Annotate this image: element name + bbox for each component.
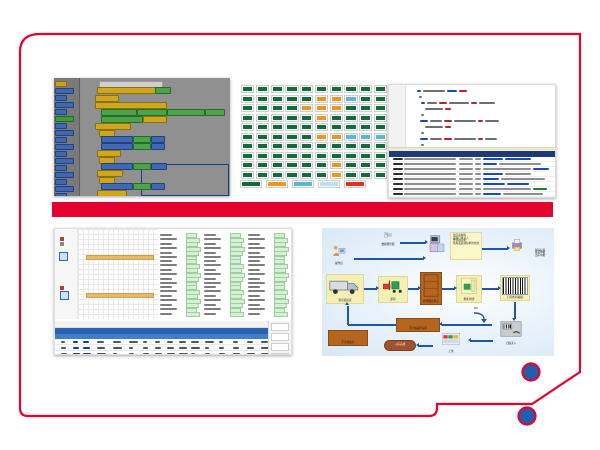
log-output[interactable]	[389, 157, 555, 197]
code-block[interactable]	[97, 170, 123, 177]
status-card-fill	[361, 144, 370, 148]
status-card-fill	[376, 97, 385, 101]
log-token	[483, 178, 499, 180]
gantt-bar[interactable]	[86, 293, 154, 298]
sheet-text-label	[204, 247, 221, 249]
status-card[interactable]	[285, 171, 298, 179]
status-card[interactable]	[315, 95, 328, 103]
table-side-button[interactable]	[271, 333, 289, 341]
status-card[interactable]	[271, 171, 284, 179]
status-card[interactable]	[330, 142, 343, 150]
status-card-fill	[346, 163, 355, 167]
table-cell	[219, 347, 224, 349]
sheet-text-label	[204, 290, 221, 292]
status-card[interactable]	[330, 161, 343, 169]
status-card-grid[interactable]	[240, 84, 388, 180]
status-card[interactable]	[271, 114, 284, 122]
sheet-text-row	[248, 290, 288, 293]
palette-block[interactable]	[55, 158, 74, 164]
barcode-icon	[502, 277, 528, 295]
code-token	[421, 114, 424, 116]
flow-arrow	[348, 324, 396, 326]
table-cell	[247, 347, 254, 349]
status-card-fill	[273, 154, 282, 158]
status-card-fill	[332, 87, 341, 91]
status-card[interactable]	[271, 104, 284, 112]
code-token	[445, 126, 451, 128]
status-card[interactable]	[344, 104, 357, 112]
table-cell	[233, 347, 239, 349]
code-block[interactable]	[133, 136, 151, 143]
flow-node-printlbl[interactable]: 条码标签 拣货单据 出库单据	[528, 238, 552, 258]
gantt-node-handle[interactable]	[59, 252, 68, 261]
sheet-text-label	[160, 295, 172, 297]
sheet-text-label	[204, 252, 216, 254]
status-card[interactable]	[285, 104, 298, 112]
palette-block[interactable]	[55, 179, 67, 185]
status-card[interactable]	[241, 95, 254, 103]
code-block[interactable]	[167, 109, 205, 116]
palette-block[interactable]	[55, 88, 74, 94]
blocks-editor-screenshot[interactable]	[54, 78, 230, 196]
code-area[interactable]	[389, 85, 555, 149]
table-cell	[113, 341, 121, 343]
sheet-text-row	[248, 299, 288, 302]
status-card[interactable]	[256, 104, 269, 112]
flow-node-done[interactable]: 入库完成	[384, 340, 416, 351]
log-token	[475, 158, 481, 160]
palette-block[interactable]	[55, 165, 67, 171]
code-block[interactable]	[133, 163, 151, 170]
status-card-fill	[258, 173, 267, 177]
status-card[interactable]	[256, 152, 269, 160]
status-card[interactable]	[271, 85, 284, 93]
sheet-text-label	[160, 252, 172, 254]
status-card-fill	[287, 135, 296, 139]
status-card[interactable]	[330, 85, 343, 93]
flow-node-reject[interactable]: 不合格品暂存区	[396, 318, 440, 332]
code-token	[478, 138, 483, 140]
status-card[interactable]	[315, 114, 328, 122]
flow-node-terminal[interactable]	[426, 234, 448, 262]
code-block[interactable]	[97, 190, 127, 196]
status-card[interactable]	[256, 142, 269, 150]
table-cell	[113, 353, 117, 355]
sheet-text-row	[248, 285, 288, 288]
palette-block[interactable]	[55, 193, 67, 196]
status-card[interactable]	[315, 161, 328, 169]
sheet-text-row	[248, 308, 288, 311]
status-card[interactable]	[374, 142, 387, 150]
gantt-node-handle[interactable]	[60, 291, 69, 300]
palette-block[interactable]	[55, 172, 74, 178]
flow-node-operator[interactable]: 操作员	[326, 244, 352, 266]
sheet-text-row	[160, 268, 200, 271]
table-cell	[191, 347, 200, 349]
sheet-text-row	[248, 238, 288, 241]
status-card[interactable]	[241, 104, 254, 112]
blocks-palette[interactable]	[54, 78, 80, 196]
status-card[interactable]	[271, 142, 284, 150]
code-block[interactable]	[205, 109, 225, 116]
palette-block[interactable]	[55, 109, 67, 115]
status-card[interactable]	[359, 95, 372, 103]
table-cell	[191, 341, 199, 343]
status-card[interactable]	[315, 152, 328, 160]
log-token	[393, 188, 403, 190]
status-card[interactable]	[285, 161, 298, 169]
log-token	[483, 193, 501, 195]
status-card[interactable]	[344, 142, 357, 150]
status-card-fill	[317, 116, 326, 120]
code-token	[420, 120, 428, 122]
status-card[interactable]	[374, 95, 387, 103]
flow-node-label: 检查收货单证	[421, 301, 441, 304]
status-card-fill	[258, 144, 267, 148]
status-card[interactable]	[374, 133, 387, 141]
table-cell	[143, 347, 148, 349]
status-card[interactable]	[256, 114, 269, 122]
flow-node-scan[interactable]: 扫描录入	[494, 320, 528, 346]
status-card-fill	[287, 144, 296, 148]
palette-block[interactable]	[55, 137, 67, 143]
status-card[interactable]	[285, 142, 298, 150]
code-block[interactable]	[151, 136, 165, 143]
code-block[interactable]	[101, 163, 133, 170]
sheet-text-label	[248, 278, 260, 280]
flow-node-shelf[interactable]: 上架	[434, 332, 468, 354]
sheet-text-label	[248, 308, 265, 310]
status-card[interactable]	[359, 133, 372, 141]
status-card[interactable]	[374, 161, 387, 169]
status-card[interactable]	[300, 171, 313, 179]
status-card[interactable]	[330, 114, 343, 122]
sheet-text-row	[204, 294, 244, 297]
status-card[interactable]	[330, 171, 343, 179]
code-block[interactable]	[133, 183, 151, 190]
status-card[interactable]	[344, 161, 357, 169]
status-card[interactable]	[330, 95, 343, 103]
code-block[interactable]	[95, 123, 131, 130]
status-card[interactable]	[241, 161, 254, 169]
status-card[interactable]	[374, 152, 387, 160]
legend-swatch-fill	[294, 182, 312, 186]
status-card[interactable]	[330, 152, 343, 160]
status-card[interactable]	[271, 95, 284, 103]
palette-block[interactable]	[55, 81, 67, 87]
status-card[interactable]	[359, 85, 372, 93]
status-card[interactable]	[300, 133, 313, 141]
code-token	[430, 120, 442, 122]
status-card[interactable]	[315, 85, 328, 93]
sheet-text-label	[204, 304, 216, 306]
status-card-fill	[376, 173, 385, 177]
sheet-text-row	[204, 277, 244, 280]
status-card[interactable]	[300, 152, 313, 160]
sheet-text-label	[204, 282, 221, 284]
status-card-fill	[332, 116, 341, 120]
status-card[interactable]	[300, 85, 313, 93]
sheet-text-row	[204, 233, 244, 236]
status-card[interactable]	[359, 104, 372, 112]
sheet-text-row	[160, 312, 200, 315]
code-token	[479, 102, 495, 104]
status-card[interactable]	[285, 133, 298, 141]
table-cell	[155, 341, 160, 343]
flow-node-label: 卸货	[379, 299, 407, 302]
status-card[interactable]	[256, 161, 269, 169]
status-card[interactable]	[344, 114, 357, 122]
code-token	[454, 120, 476, 122]
log-token	[483, 163, 497, 165]
flow-arrow-head-icon	[376, 286, 379, 290]
sheet-text-row	[248, 268, 288, 271]
table-side-buttons[interactable]	[268, 321, 291, 354]
status-card[interactable]	[271, 133, 284, 141]
code-block[interactable]	[101, 116, 143, 123]
sheet-text-row	[160, 308, 200, 311]
code-token	[427, 102, 437, 104]
code-block[interactable]	[143, 116, 167, 123]
table-cell	[129, 347, 133, 349]
code-block[interactable]	[133, 143, 151, 150]
palette-block[interactable]	[55, 116, 74, 122]
sheet-text-label	[204, 278, 216, 280]
status-card[interactable]	[330, 104, 343, 112]
sheet-text-block	[248, 233, 288, 260]
sheet-text-block	[204, 259, 244, 286]
status-card[interactable]	[344, 133, 357, 141]
sheet-text-label	[204, 243, 216, 245]
flow-node-printer[interactable]	[508, 238, 526, 260]
status-card-fill	[287, 97, 296, 101]
status-card[interactable]	[256, 133, 269, 141]
flow-node-forklift[interactable]: 卸货	[378, 276, 408, 303]
sheet-text-label	[160, 299, 177, 301]
status-card[interactable]	[330, 133, 343, 141]
printer-icon	[511, 239, 523, 253]
palette-block[interactable]	[55, 123, 67, 129]
sheet-text-row	[248, 303, 288, 306]
status-grid-legend	[240, 180, 388, 192]
code-block[interactable]	[151, 183, 165, 190]
table-cell	[205, 353, 210, 355]
sheet-text-row	[248, 312, 288, 315]
status-card[interactable]	[241, 133, 254, 141]
status-card[interactable]	[300, 95, 313, 103]
flow-node-barcode[interactable]: 打印条码粘贴	[500, 275, 530, 301]
status-card[interactable]	[315, 123, 328, 131]
status-card[interactable]	[285, 95, 298, 103]
status-card[interactable]	[300, 123, 313, 131]
status-card-fill	[287, 106, 296, 110]
status-card[interactable]	[285, 123, 298, 131]
status-card[interactable]	[256, 171, 269, 179]
table-cell	[73, 347, 79, 349]
palette-block[interactable]	[55, 130, 74, 136]
status-card-fill	[317, 163, 326, 167]
flow-node-rejectwh[interactable]: 不合格品库	[328, 330, 368, 346]
sheet-text-label	[248, 269, 260, 271]
status-card[interactable]	[359, 114, 372, 122]
status-card[interactable]	[374, 114, 387, 122]
legend-swatch-error	[344, 180, 366, 188]
status-card[interactable]	[359, 152, 372, 160]
status-card[interactable]	[344, 123, 357, 131]
code-token	[471, 102, 477, 104]
blocks-canvas[interactable]	[81, 78, 230, 196]
table-toolbar[interactable]	[55, 321, 291, 328]
status-card[interactable]	[256, 95, 269, 103]
sheet-text-row	[248, 233, 288, 236]
palette-block[interactable]	[55, 186, 74, 192]
table-side-button[interactable]	[271, 353, 289, 355]
code-token	[485, 120, 499, 122]
status-card[interactable]	[300, 161, 313, 169]
status-card-fill	[302, 106, 311, 110]
table-cell	[73, 341, 78, 343]
flow-node-server[interactable]: 数据服务器	[376, 231, 400, 247]
sheet-text-label	[248, 256, 265, 258]
table-side-button[interactable]	[271, 323, 289, 331]
status-card-fill	[332, 125, 341, 129]
status-card[interactable]	[359, 171, 372, 179]
status-card[interactable]	[359, 161, 372, 169]
palette-block[interactable]	[55, 144, 74, 150]
status-card[interactable]	[330, 123, 343, 131]
code-block[interactable]	[101, 183, 133, 190]
status-card[interactable]	[241, 142, 254, 150]
code-block[interactable]	[97, 87, 157, 94]
sheet-text-block	[160, 259, 200, 286]
sheet-text-label	[160, 290, 177, 292]
status-card-fill	[287, 116, 296, 120]
status-card[interactable]	[359, 142, 372, 150]
status-card[interactable]	[374, 123, 387, 131]
status-card[interactable]	[344, 171, 357, 179]
status-card-fill	[302, 154, 311, 158]
status-card-fill	[273, 87, 282, 91]
sheet-text-value	[186, 312, 200, 317]
sheet-text-label	[204, 273, 221, 275]
code-block[interactable]	[95, 95, 119, 102]
code-block[interactable]	[155, 87, 171, 94]
flow-arrow	[514, 302, 516, 319]
table-cell	[179, 347, 187, 349]
table-cell	[167, 353, 175, 355]
schedule-sheet-screenshot[interactable]	[54, 228, 292, 355]
sheet-sidebar[interactable]	[55, 229, 78, 319]
status-card-fill	[258, 163, 267, 167]
code-block[interactable]	[101, 136, 133, 143]
status-card[interactable]	[271, 123, 284, 131]
flow-node-notes[interactable]: 供应商资料 采购订单录入 作业指示单 预先发货通知单的生成	[450, 232, 482, 260]
status-card[interactable]	[344, 95, 357, 103]
status-card[interactable]	[271, 152, 284, 160]
code-block[interactable]	[151, 143, 165, 150]
status-card[interactable]	[315, 142, 328, 150]
warehouse-flowchart[interactable]: 操作员数据服务器供应商资料 采购订单录入 作业指示单 预先发货通知单的生成条码标…	[322, 228, 554, 356]
status-card[interactable]	[241, 123, 254, 131]
flow-node-cabinet[interactable]: 检查收货单证	[420, 272, 442, 305]
status-card[interactable]	[300, 114, 313, 122]
sheet-text-label	[248, 313, 260, 315]
status-card[interactable]	[241, 85, 254, 93]
log-token	[459, 193, 473, 195]
table-row[interactable]	[55, 351, 291, 355]
status-card[interactable]	[344, 85, 357, 93]
table-cell	[261, 341, 268, 343]
status-card[interactable]	[285, 85, 298, 93]
palette-block[interactable]	[55, 102, 74, 108]
status-card[interactable]	[344, 152, 357, 160]
status-card[interactable]	[241, 114, 254, 122]
sheet-text-label	[248, 247, 265, 249]
status-card[interactable]	[300, 104, 313, 112]
status-card[interactable]	[359, 123, 372, 131]
status-card[interactable]	[285, 152, 298, 160]
status-card[interactable]	[256, 123, 269, 131]
flow-node-truck[interactable]: 供应商送货	[326, 274, 364, 304]
table-side-button[interactable]	[271, 343, 289, 351]
data-table[interactable]	[55, 321, 291, 354]
status-card[interactable]	[374, 85, 387, 93]
status-card-fill	[346, 106, 355, 110]
status-card-fill	[258, 116, 267, 120]
sheet-text-block	[248, 285, 288, 317]
flow-node-weigh[interactable]: 称重 检查	[456, 275, 482, 303]
sheet-text-row	[248, 242, 288, 245]
table-cell	[179, 341, 186, 343]
log-token	[505, 173, 531, 175]
sheet-text-row	[160, 238, 200, 241]
flow-arrow	[418, 345, 433, 347]
status-card[interactable]	[315, 171, 328, 179]
log-token	[475, 183, 481, 185]
code-block[interactable]	[151, 163, 167, 170]
status-card[interactable]	[315, 104, 328, 112]
table-cell	[83, 347, 90, 349]
code-block[interactable]	[97, 150, 121, 157]
log-token	[459, 168, 473, 170]
sheet-text-row	[160, 294, 200, 297]
gantt-grid[interactable]	[78, 229, 158, 319]
table-header-row	[55, 328, 291, 334]
status-card[interactable]	[241, 171, 254, 179]
status-card[interactable]	[285, 114, 298, 122]
status-card[interactable]	[241, 152, 254, 160]
code-block[interactable]	[137, 109, 167, 116]
code-block[interactable]	[95, 102, 167, 109]
status-card[interactable]	[374, 171, 387, 179]
palette-block[interactable]	[55, 151, 67, 157]
code-editor-screenshot[interactable]	[388, 84, 556, 198]
log-token	[483, 158, 503, 160]
status-card[interactable]	[315, 133, 328, 141]
log-token	[475, 163, 481, 165]
gantt-bar[interactable]	[86, 255, 154, 260]
code-token	[430, 138, 442, 140]
code-block[interactable]	[101, 109, 137, 116]
sheet-text-row	[248, 294, 288, 297]
status-card[interactable]	[256, 85, 269, 93]
status-card[interactable]	[300, 142, 313, 150]
code-block[interactable]	[101, 143, 133, 150]
log-token	[404, 168, 456, 170]
status-card[interactable]	[271, 161, 284, 169]
palette-block[interactable]	[55, 95, 67, 101]
status-card[interactable]	[374, 104, 387, 112]
